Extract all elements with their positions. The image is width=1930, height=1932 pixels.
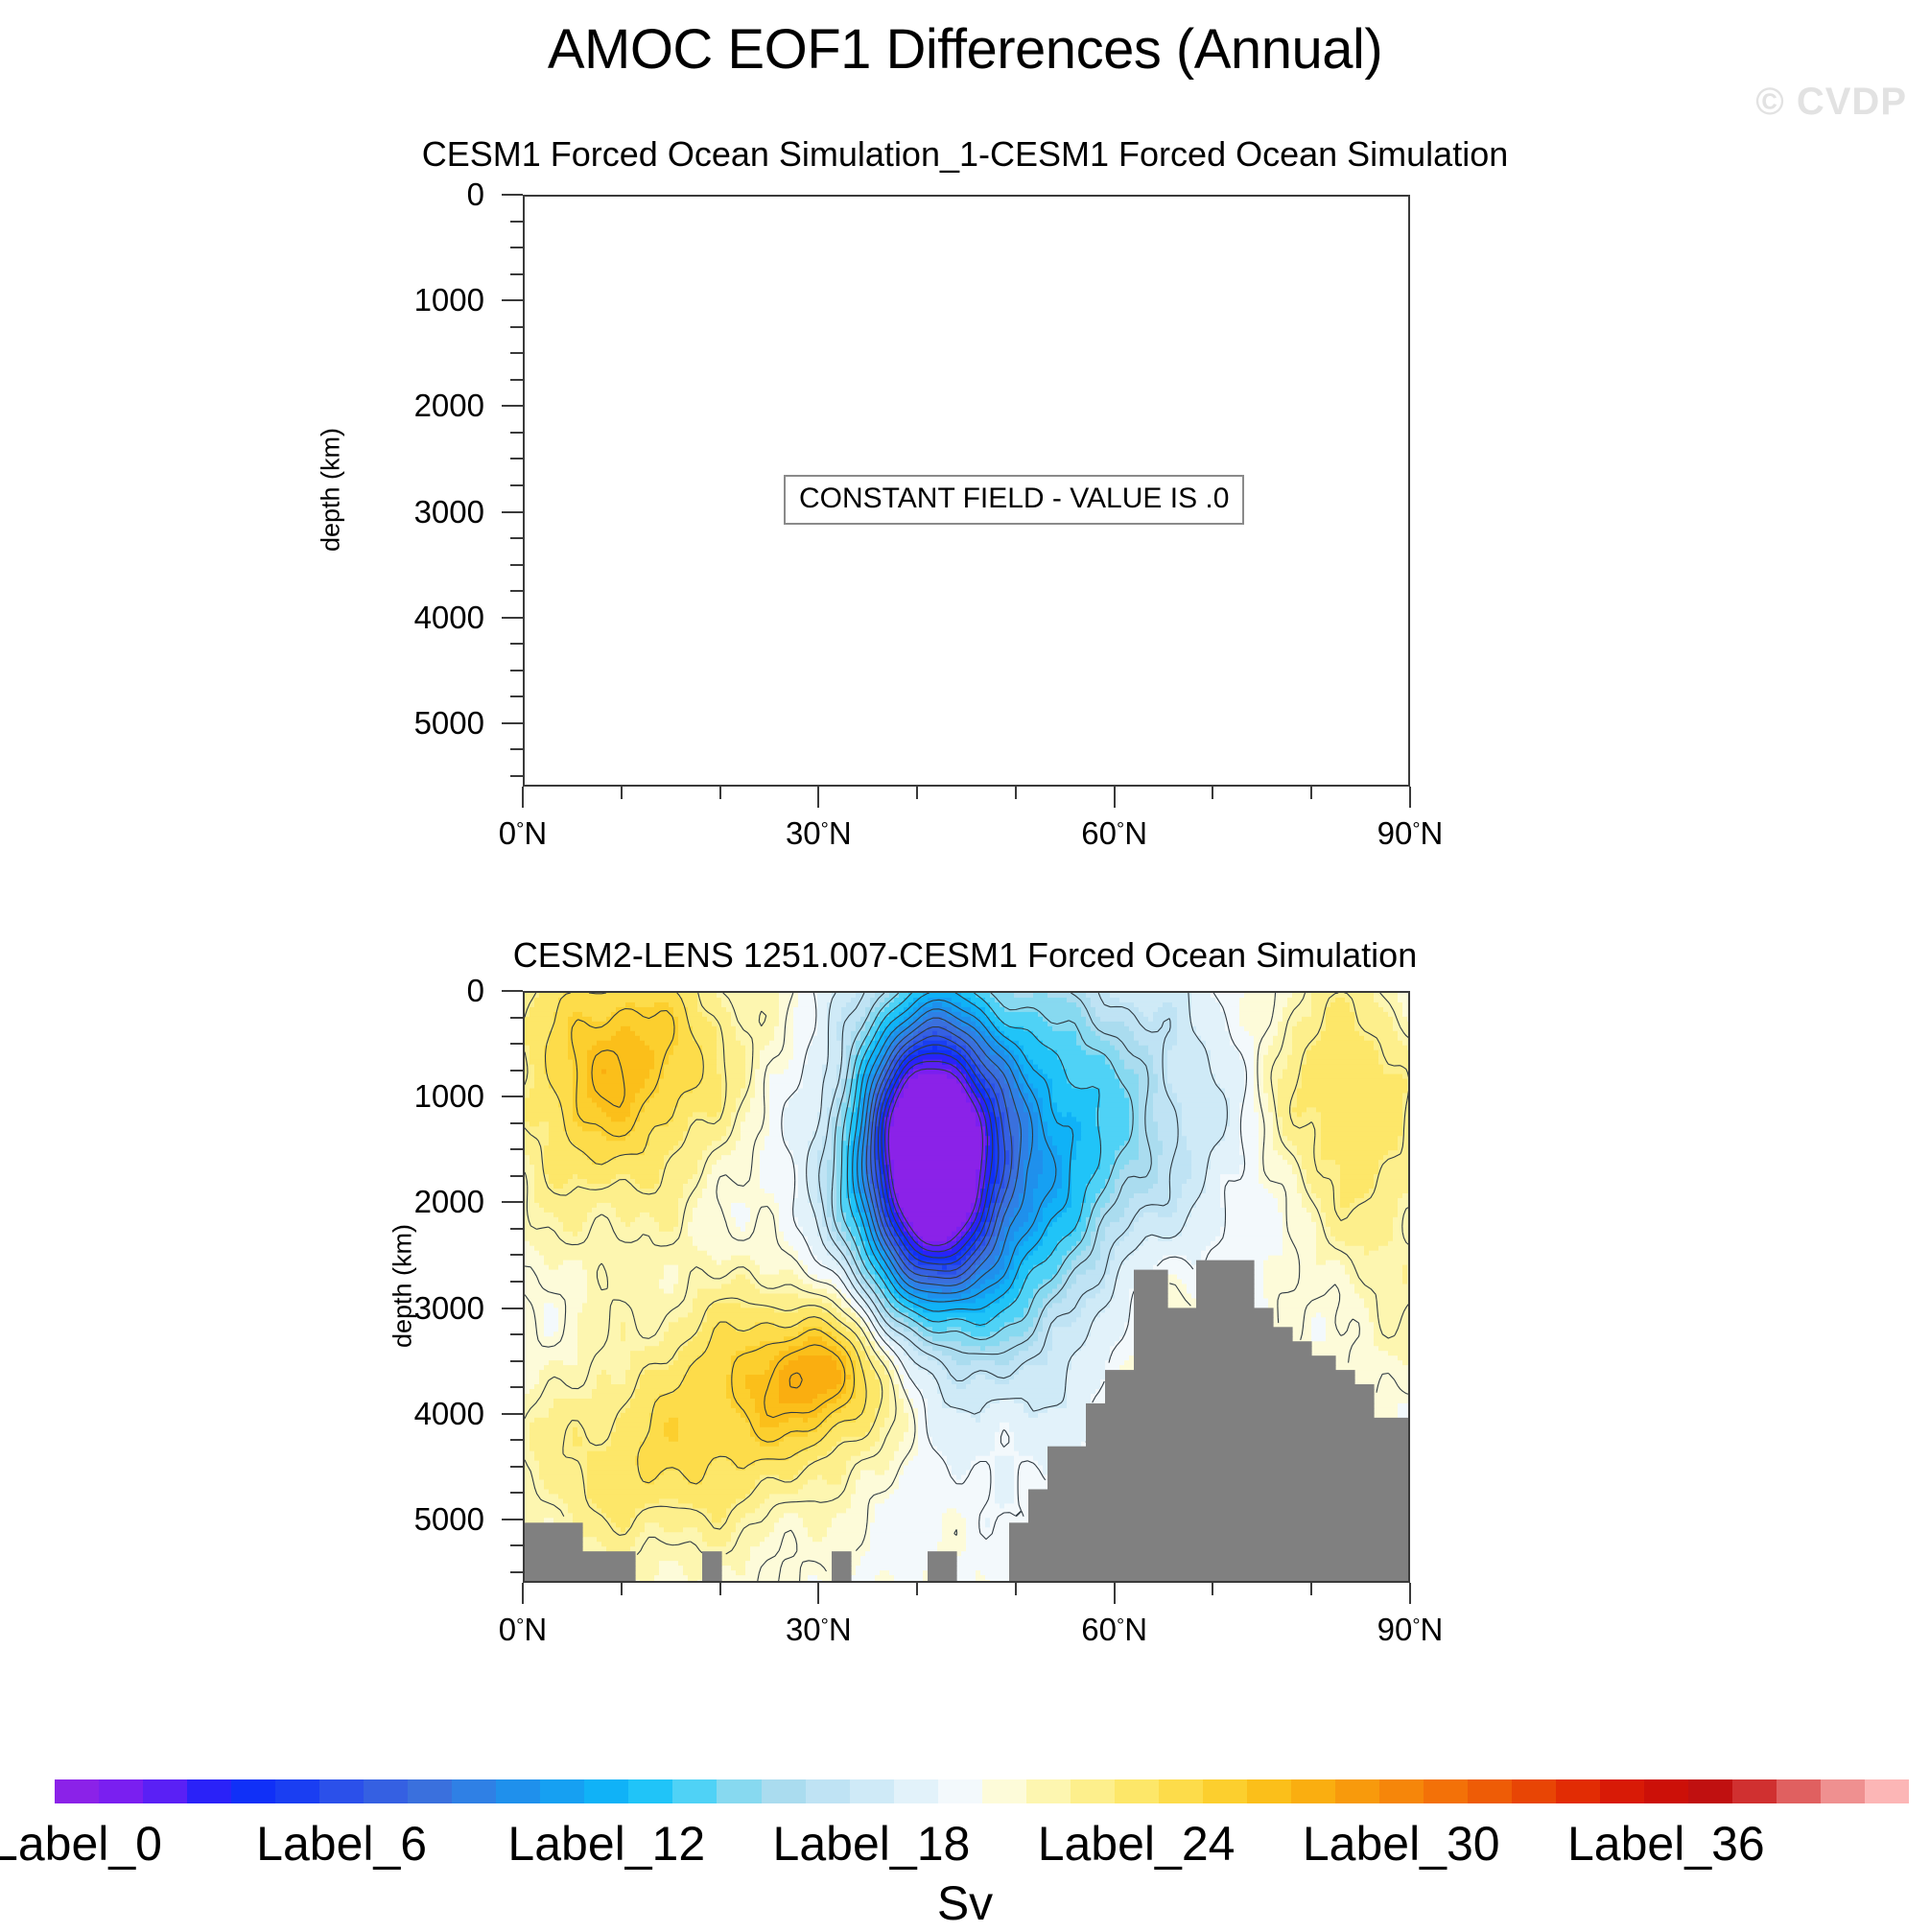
panel-2-ytick-major <box>502 1519 523 1520</box>
panel-2-ytick-minor <box>510 1122 523 1124</box>
colorbar-cell[interactable] <box>982 1779 1026 1803</box>
colorbar-cell[interactable] <box>850 1779 894 1803</box>
colorbar-cell[interactable] <box>408 1779 452 1803</box>
colorbar-cell[interactable] <box>717 1779 761 1803</box>
panel-2-ytick-minor <box>510 1466 523 1468</box>
panel-2-xtick-major <box>817 1583 819 1604</box>
panel-2-plot-area[interactable] <box>523 991 1410 1583</box>
panel-amoc-difference: CESM2-LENS 1251.007-CESM1 Forced Ocean S… <box>0 0 1930 1688</box>
panel-2-ytick-minor <box>510 1360 523 1362</box>
colorbar-cell[interactable] <box>1777 1779 1821 1803</box>
colorbar-cell[interactable] <box>1732 1779 1777 1803</box>
panel-2-ytick-minor <box>510 1228 523 1230</box>
colorbar-cell[interactable] <box>938 1779 982 1803</box>
panel-2-ytick-minor <box>510 1333 523 1335</box>
panel-2-ytick-minor <box>510 1148 523 1150</box>
colorbar-cell[interactable] <box>1688 1779 1732 1803</box>
panel-2-xtick-minor <box>1310 1583 1312 1595</box>
colorbar-cell[interactable] <box>364 1779 408 1803</box>
panel-2-ytick-label: 3000 <box>302 1290 484 1327</box>
panel-2-xtick-label: 60°N <box>1081 1612 1147 1648</box>
panel-2-xtick-label: 90°N <box>1377 1612 1444 1648</box>
panel-2-title: CESM2-LENS 1251.007-CESM1 Forced Ocean S… <box>0 935 1930 976</box>
colorbar-cell[interactable] <box>584 1779 628 1803</box>
colorbar-cell[interactable] <box>99 1779 143 1803</box>
panel-2-ytick-minor <box>510 1070 523 1072</box>
panel-2-xtick-major <box>1409 1583 1411 1604</box>
panel-2-xtick-minor <box>621 1583 623 1595</box>
colorbar-cell[interactable] <box>1600 1779 1644 1803</box>
colorbar-tick-label: Label_12 <box>507 1816 705 1872</box>
contour-field <box>525 993 1410 1583</box>
colorbar-cell[interactable] <box>1071 1779 1115 1803</box>
panel-2-xtick-minor <box>1015 1583 1017 1595</box>
panel-2-ytick-minor <box>510 1544 523 1546</box>
panel-2-xtick-label: 30°N <box>786 1612 852 1648</box>
colorbar-cell[interactable] <box>628 1779 672 1803</box>
colorbar-cell[interactable] <box>1115 1779 1159 1803</box>
colorbar-cell[interactable] <box>1424 1779 1468 1803</box>
panel-2-xtick-minor <box>1212 1583 1213 1595</box>
colorbar-cell[interactable] <box>806 1779 850 1803</box>
panel-2-ytick-major <box>502 1201 523 1203</box>
panel-2-xtick-minor <box>916 1583 918 1595</box>
colorbar-cell[interactable] <box>1159 1779 1203 1803</box>
panel-2-ytick-minor <box>510 1175 523 1177</box>
colorbar-cell[interactable] <box>275 1779 319 1803</box>
colorbar-cell[interactable] <box>1335 1779 1379 1803</box>
colorbar-cell[interactable] <box>1821 1779 1865 1803</box>
panel-2-ytick-minor <box>510 1043 523 1045</box>
colorbar[interactable] <box>55 1779 1909 1803</box>
colorbar-cell[interactable] <box>55 1779 99 1803</box>
colorbar-cell[interactable] <box>1379 1779 1424 1803</box>
colorbar-cell[interactable] <box>894 1779 938 1803</box>
colorbar-cell[interactable] <box>143 1779 187 1803</box>
colorbar-cell[interactable] <box>496 1779 540 1803</box>
colorbar-tick-label: Label_36 <box>1567 1816 1765 1872</box>
colorbar-cell[interactable] <box>452 1779 496 1803</box>
colorbar-cell[interactable] <box>1644 1779 1688 1803</box>
colorbar-cell[interactable] <box>672 1779 717 1803</box>
panel-2-ytick-major <box>502 1413 523 1415</box>
colorbar-cell[interactable] <box>231 1779 275 1803</box>
panel-2-ytick-minor <box>510 1281 523 1283</box>
colorbar-cell[interactable] <box>540 1779 584 1803</box>
panel-2-xtick-major <box>522 1583 524 1604</box>
panel-2-ytick-label: 2000 <box>302 1184 484 1220</box>
panel-2-xtick-label: 0°N <box>499 1612 547 1648</box>
colorbar-tick-label: Label_18 <box>773 1816 971 1872</box>
colorbar-cell[interactable] <box>1247 1779 1291 1803</box>
panel-2-ytick-major <box>502 990 523 992</box>
panel-2-ytick-minor <box>510 1386 523 1388</box>
colorbar-tick-label: Label_6 <box>256 1816 427 1872</box>
colorbar-tick-label: Label_0 <box>0 1816 162 1872</box>
panel-2-ytick-major <box>502 1308 523 1309</box>
panel-2-ytick-label: 1000 <box>302 1078 484 1115</box>
panel-2-ytick-label: 0 <box>302 973 484 1009</box>
panel-2-xtick-minor <box>719 1583 721 1595</box>
colorbar-cell[interactable] <box>187 1779 231 1803</box>
panel-2-ytick-major <box>502 1096 523 1097</box>
colorbar-tick-label: Label_24 <box>1038 1816 1236 1872</box>
panel-2-ytick-minor <box>510 1571 523 1573</box>
panel-2-ytick-minor <box>510 1439 523 1441</box>
colorbar-cell[interactable] <box>762 1779 806 1803</box>
panel-2-ytick-minor <box>510 1017 523 1019</box>
colorbar-cell[interactable] <box>319 1779 364 1803</box>
colorbar-cell[interactable] <box>1468 1779 1512 1803</box>
colorbar-cell[interactable] <box>1512 1779 1556 1803</box>
panel-2-ytick-label: 5000 <box>302 1501 484 1538</box>
colorbar-units-label: Sv <box>0 1875 1930 1931</box>
colorbar-cell[interactable] <box>1556 1779 1600 1803</box>
panel-2-ytick-minor <box>510 1492 523 1494</box>
colorbar-tick-label: Label_30 <box>1303 1816 1500 1872</box>
panel-2-ytick-minor <box>510 1254 523 1256</box>
panel-2-xtick-major <box>1114 1583 1116 1604</box>
colorbar-cell[interactable] <box>1203 1779 1247 1803</box>
colorbar-cell[interactable] <box>1026 1779 1071 1803</box>
colorbar-cell[interactable] <box>1291 1779 1335 1803</box>
panel-2-ytick-label: 4000 <box>302 1396 484 1432</box>
colorbar-cell[interactable] <box>1865 1779 1909 1803</box>
